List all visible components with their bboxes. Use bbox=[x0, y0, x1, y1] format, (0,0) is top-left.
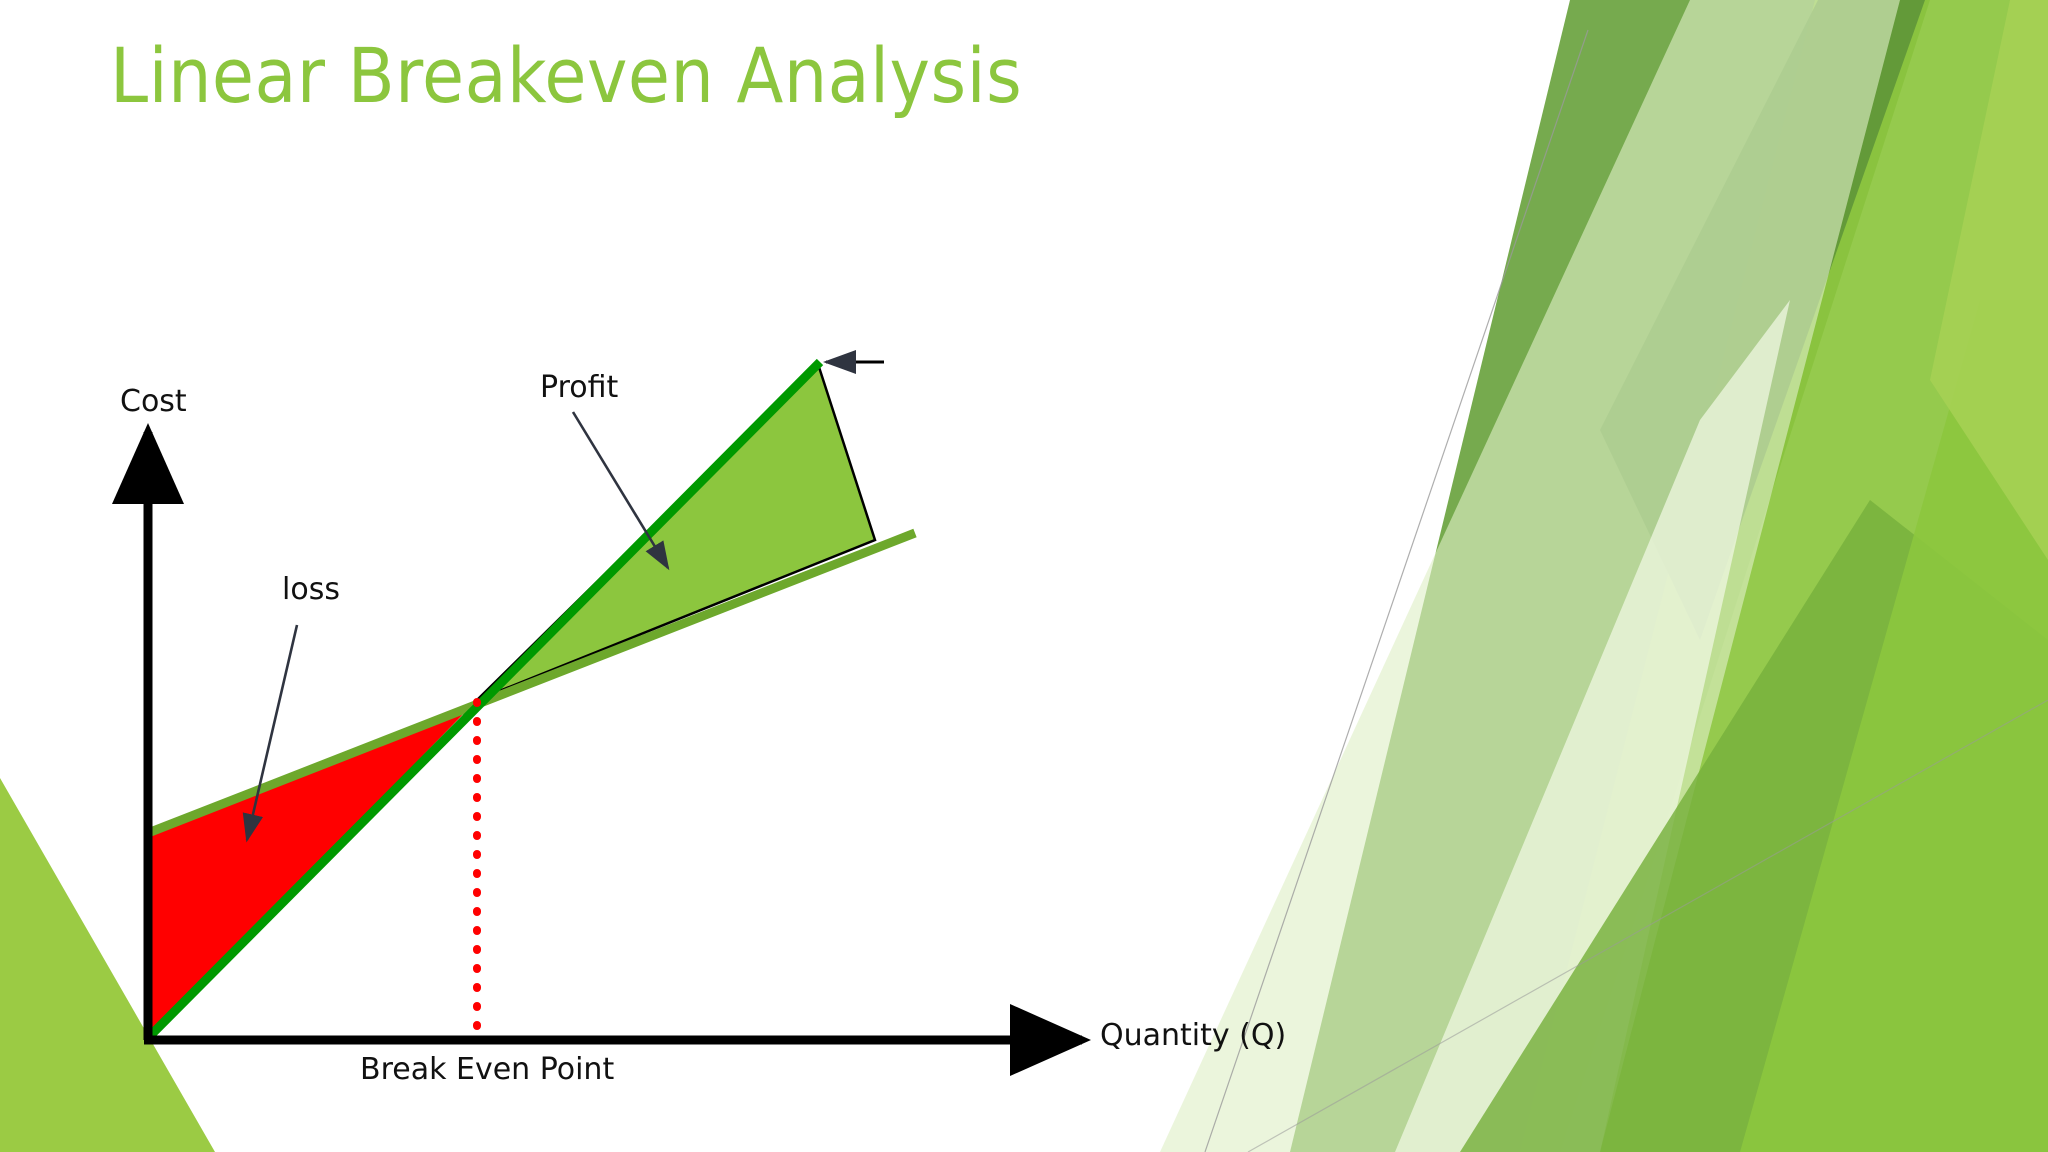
deco-shape-r3 bbox=[1520, 0, 2048, 1152]
deco-shape-r7 bbox=[1460, 500, 2048, 1152]
y-axis-label: Cost bbox=[120, 384, 187, 419]
x-axis-label: Quantity (Q) bbox=[1100, 1018, 1286, 1053]
deco-shape-r6 bbox=[1395, 300, 1790, 1152]
slide-canvas: Linear Breakeven Analysis Co bbox=[0, 0, 2048, 1152]
breakeven-chart bbox=[0, 0, 1400, 1152]
deco-shape-r9 bbox=[1930, 0, 2048, 560]
loss-region-label: loss bbox=[282, 572, 340, 607]
total-revenue-line bbox=[148, 362, 820, 1038]
deco-shape-r4 bbox=[1600, 0, 1925, 640]
break-even-point-label: Break Even Point bbox=[360, 1052, 614, 1087]
deco-shape-r8 bbox=[1740, 300, 2048, 1152]
profit-leader-arrow bbox=[573, 412, 668, 568]
profit-region-label: Profit bbox=[540, 370, 618, 405]
total-cost-line bbox=[148, 533, 915, 833]
